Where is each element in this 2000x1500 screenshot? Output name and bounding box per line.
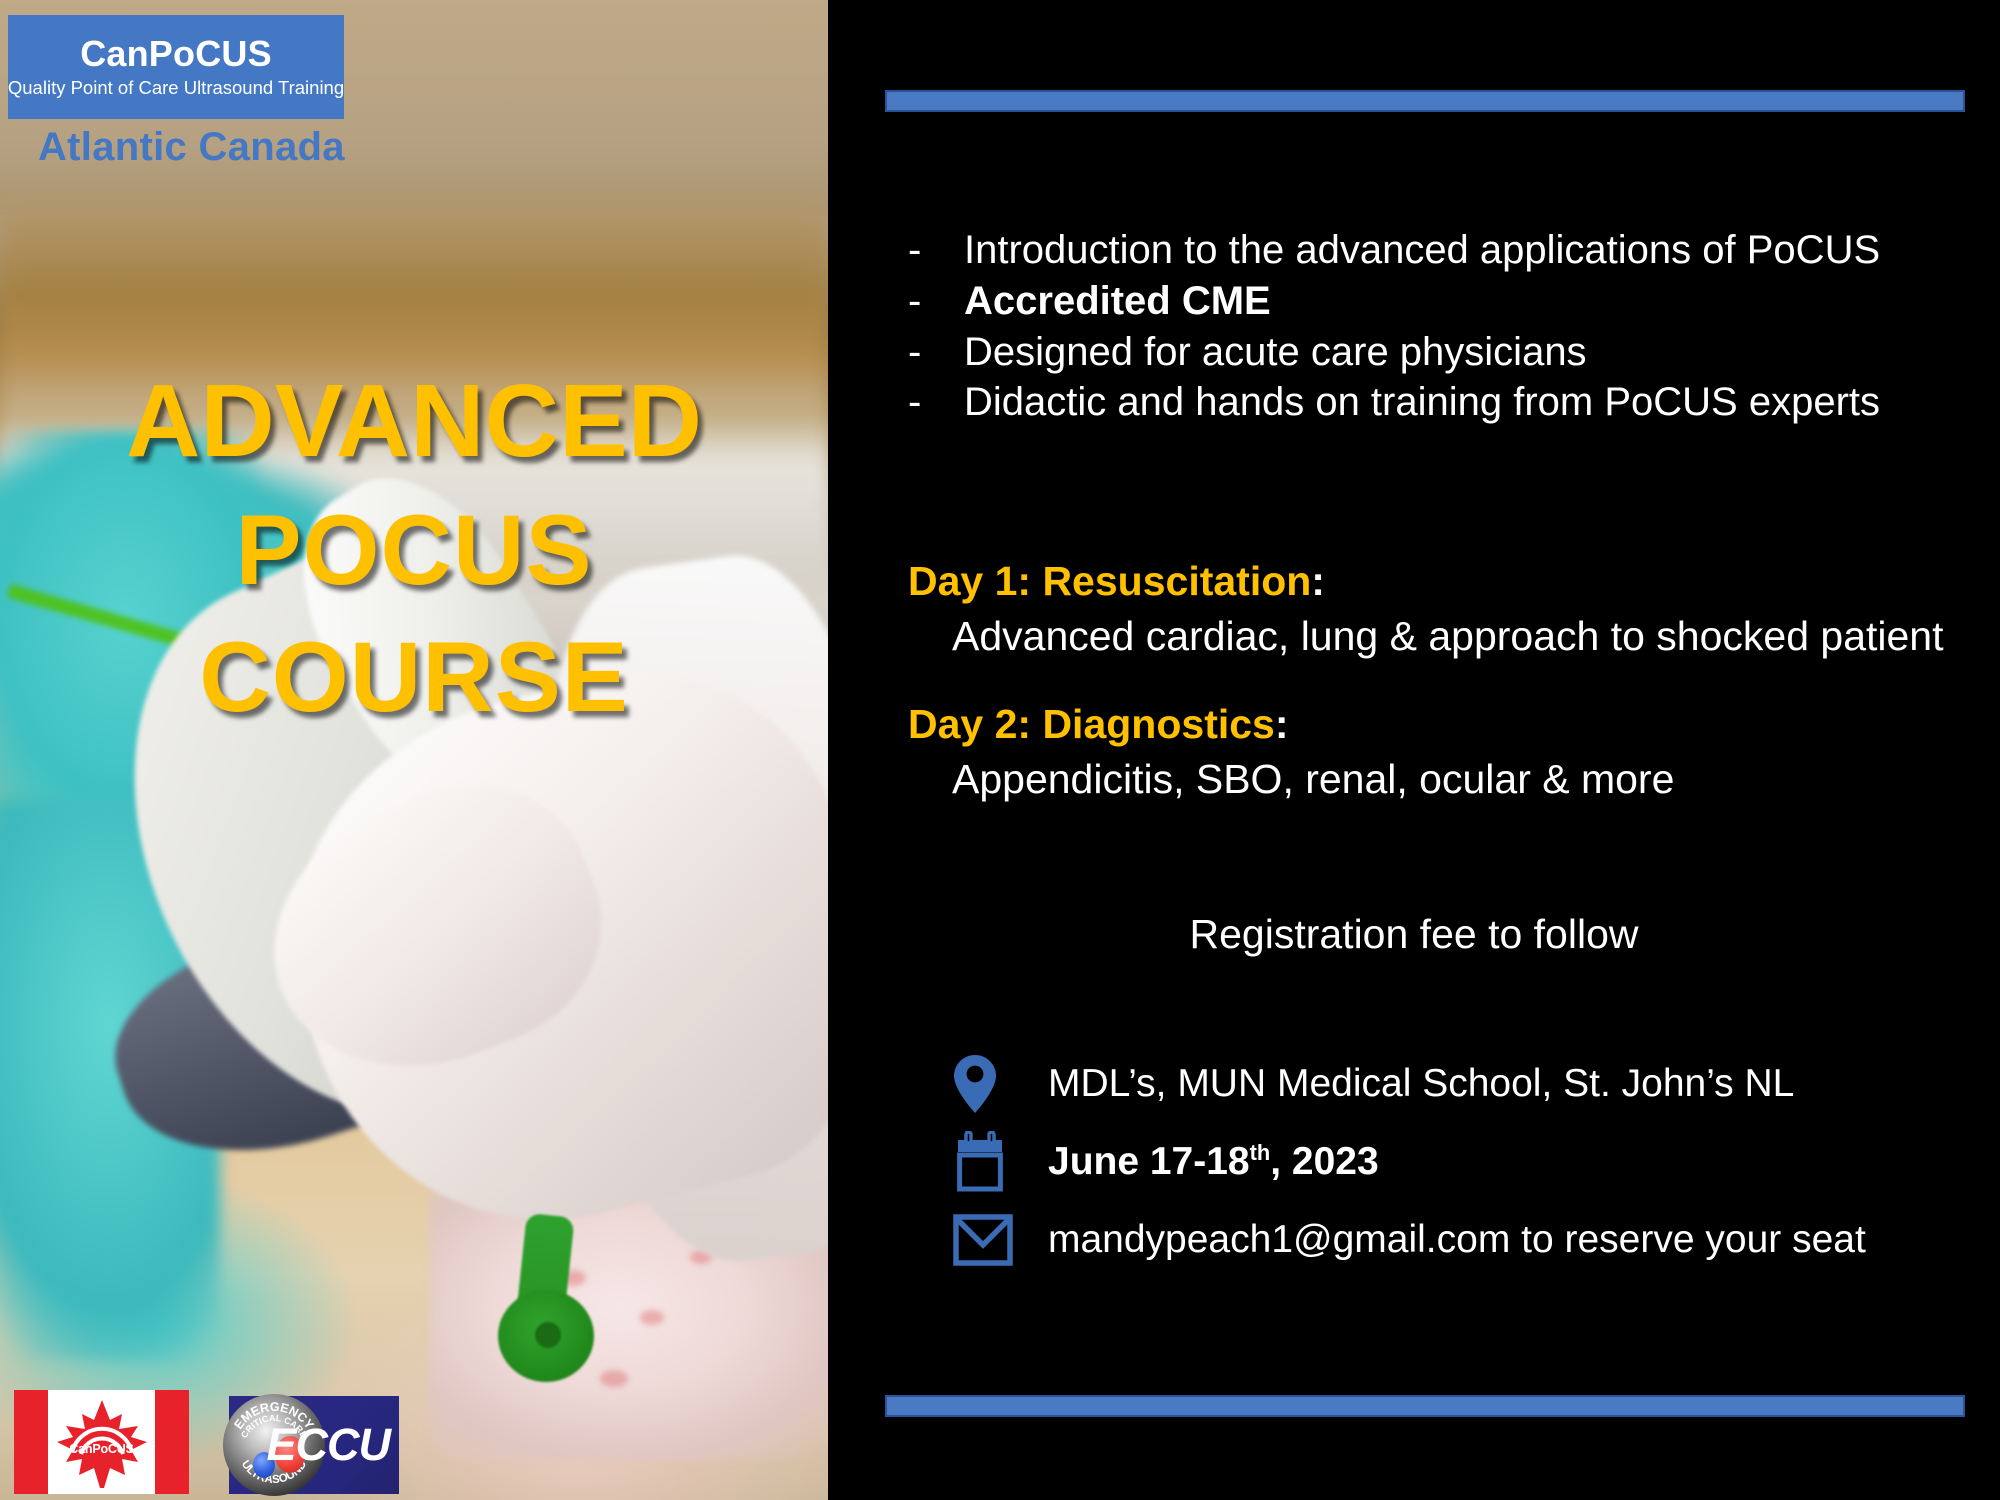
day-2-label: Day 2: Diagnostics bbox=[908, 701, 1275, 747]
photo-mat-dot bbox=[600, 1370, 628, 1387]
eccu-logo: EMERGENCY CRITICAL CARE ULTRASOUND ECCU bbox=[229, 1396, 399, 1494]
course-title-line-2: POCUS bbox=[0, 487, 828, 614]
location-pin-icon bbox=[953, 1054, 1048, 1114]
location-text: MDL’s, MUN Medical School, St. John’s NL bbox=[1048, 1063, 1794, 1106]
contact-info: MDL’s, MUN Medical School, St. John’s NL… bbox=[953, 1045, 1973, 1279]
bullet-text: Accredited CME bbox=[964, 276, 1271, 327]
bullet-dash: - bbox=[908, 225, 964, 276]
day-2-block: Day 2: Diagnostics: Appendicitis, SBO, r… bbox=[908, 700, 1968, 804]
canpocus-logo-label: CanPoCUS bbox=[69, 1442, 133, 1456]
day-2-body: Appendicitis, SBO, renal, ocular & more bbox=[952, 755, 1968, 804]
top-divider-bar bbox=[885, 90, 1965, 112]
bullet-item: - Accredited CME bbox=[908, 276, 1958, 327]
course-title: ADVANCED POCUS COURSE bbox=[0, 355, 828, 740]
bullet-item: - Designed for acute care physicians bbox=[908, 327, 1958, 378]
right-content-panel: - Introduction to the advanced applicati… bbox=[828, 0, 2000, 1500]
contact-row-email: mandypeach1@gmail.com to reserve your se… bbox=[953, 1201, 1973, 1279]
day-2-heading: Day 2: Diagnostics: bbox=[908, 700, 1968, 749]
bullet-dash: - bbox=[908, 327, 964, 378]
day-1-heading: Day 1: Resuscitation: bbox=[908, 557, 1968, 606]
photo-mat-dot bbox=[640, 1310, 664, 1325]
flag-band-right bbox=[155, 1390, 189, 1494]
bullet-item: - Didactic and hands on training from Po… bbox=[908, 377, 1958, 428]
bottom-divider-bar bbox=[885, 1395, 1965, 1417]
bullet-text: Didactic and hands on training from PoCU… bbox=[964, 377, 1880, 428]
flag-band-left bbox=[14, 1390, 48, 1494]
brand-box: CanPoCUS Quality Point of Care Ultrasoun… bbox=[8, 15, 344, 119]
date-text: June 17-18th, 2023 bbox=[1048, 1141, 1379, 1184]
registration-note: Registration fee to follow bbox=[828, 910, 2000, 959]
day-1-label: Day 1: Resuscitation bbox=[908, 558, 1311, 604]
contact-row-location: MDL’s, MUN Medical School, St. John’s NL bbox=[953, 1045, 1973, 1123]
ultrasound-photo bbox=[0, 0, 828, 1500]
brand-title: CanPoCUS bbox=[80, 36, 272, 72]
day-2-colon: : bbox=[1275, 701, 1289, 747]
envelope-icon bbox=[953, 1214, 1048, 1266]
eccu-acronym: ECCU bbox=[266, 1419, 390, 1471]
course-title-line-3: COURSE bbox=[0, 614, 828, 741]
region-label: Atlantic Canada bbox=[38, 125, 345, 170]
contact-row-date: June 17-18th, 2023 bbox=[953, 1123, 1973, 1201]
bullet-dash: - bbox=[908, 276, 964, 327]
bullet-text: Introduction to the advanced application… bbox=[964, 225, 1880, 276]
logo-row: CanPoCUS EMERGENCY CRITICAL bbox=[14, 1390, 399, 1494]
photo-green-clip-hole bbox=[535, 1322, 561, 1348]
course-title-line-1: ADVANCED bbox=[0, 355, 828, 487]
bullet-dash: - bbox=[908, 377, 964, 428]
day-1-block: Day 1: Resuscitation: Advanced cardiac, … bbox=[908, 557, 1968, 661]
canpocus-logo: CanPoCUS bbox=[14, 1390, 189, 1494]
bullet-text: Designed for acute care physicians bbox=[964, 327, 1587, 378]
left-photo-panel: CanPoCUS Quality Point of Care Ultrasoun… bbox=[0, 0, 828, 1500]
poster-root: CanPoCUS Quality Point of Care Ultrasoun… bbox=[0, 0, 2000, 1500]
email-text: mandypeach1@gmail.com to reserve your se… bbox=[1048, 1219, 1866, 1262]
bullet-list: - Introduction to the advanced applicati… bbox=[908, 225, 1958, 428]
brand-tagline: Quality Point of Care Ultrasound Trainin… bbox=[8, 79, 344, 98]
day-1-colon: : bbox=[1311, 558, 1325, 604]
bullet-item: - Introduction to the advanced applicati… bbox=[908, 225, 1958, 276]
day-1-body: Advanced cardiac, lung & approach to sho… bbox=[952, 612, 1968, 661]
calendar-icon bbox=[953, 1131, 1048, 1193]
